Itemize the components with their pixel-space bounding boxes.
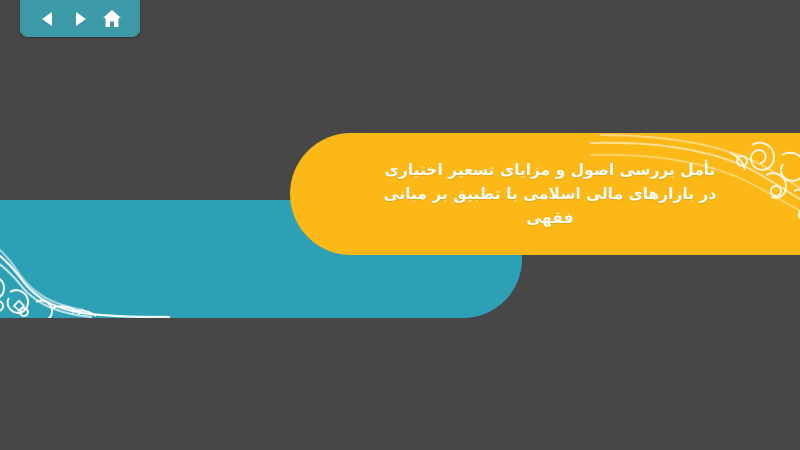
slide-navigation-bar[interactable] (20, 0, 140, 37)
title-plate: تأمل بررسی اصول و مزایای تسعیر اختیاری د… (290, 133, 800, 255)
title-line-3: فقهی (335, 206, 765, 230)
previous-slide-button[interactable] (37, 8, 59, 30)
home-icon (101, 8, 123, 30)
arabesque-ornament-teal-icon (0, 200, 170, 318)
page-title: تأمل بررسی اصول و مزایای تسعیر اختیاری د… (335, 158, 765, 230)
presentation-slide: تأمل بررسی اصول و مزایای تسعیر اختیاری د… (0, 0, 800, 450)
title-line-1: تأمل بررسی اصول و مزایای تسعیر اختیاری (335, 158, 765, 182)
triangle-left-icon (38, 9, 58, 29)
next-slide-button[interactable] (69, 8, 91, 30)
triangle-right-icon (70, 9, 90, 29)
title-line-2: در بازارهای مالی اسلامی با تطبیق بر مبان… (335, 182, 765, 206)
home-button[interactable] (101, 8, 123, 30)
